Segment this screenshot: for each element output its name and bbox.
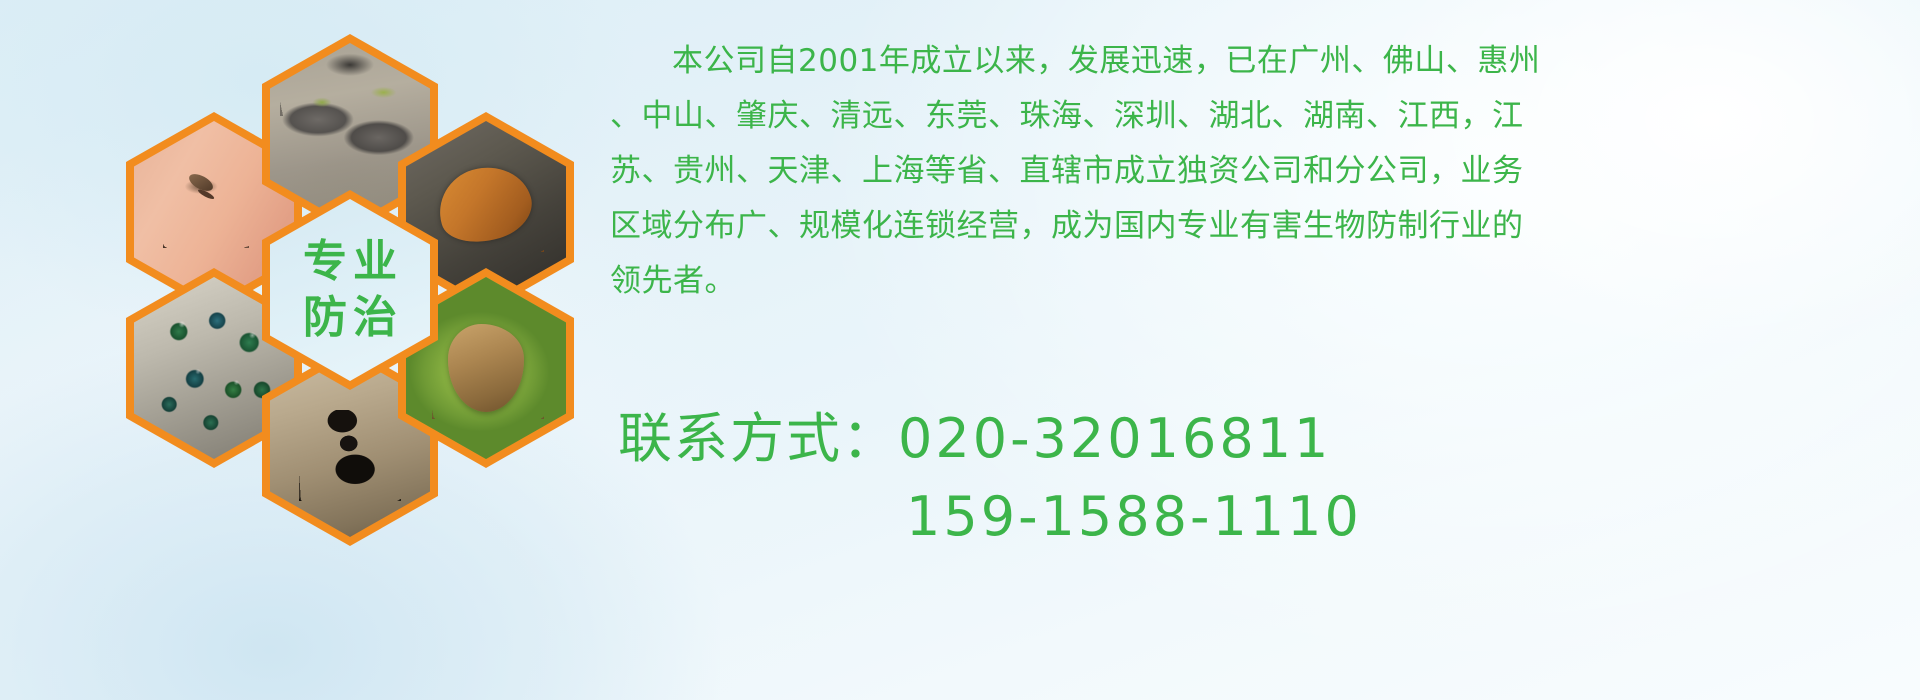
promo-banner: 专业 防治 本公司自2001年成立以来，发展迅速，已在广州、佛山、惠州 、中山、…: [0, 0, 1920, 700]
contact-line-primary: 联系方式：020-32016811: [618, 400, 1908, 478]
contact-block: 联系方式：020-32016811 159-1588-1110: [618, 400, 1908, 556]
logo-line-2: 防治: [297, 290, 403, 346]
contact-phone-mobile[interactable]: 159-1588-1110: [906, 485, 1362, 548]
honeycomb-photo-cluster: 专业 防治: [96, 14, 596, 574]
intro-line-5: 领先者。: [610, 254, 1900, 309]
intro-line-1: 本公司自2001年成立以来，发展迅速，已在广州、佛山、惠州: [610, 34, 1900, 89]
contact-label: 联系方式：: [618, 407, 898, 470]
logo-line-1: 专业: [297, 234, 403, 290]
hex-inner-logo: 专业 防治: [270, 199, 430, 381]
contact-phone-landline[interactable]: 020-32016811: [898, 407, 1331, 470]
intro-line-3: 苏、贵州、天津、上海等省、直辖市成立独资公司和分公司，业务: [610, 144, 1900, 199]
contact-line-secondary: 159-1588-1110: [618, 478, 1908, 556]
intro-line-4: 区域分布广、规模化连锁经营，成为国内专业有害生物防制行业的: [610, 199, 1900, 254]
company-intro-paragraph: 本公司自2001年成立以来，发展迅速，已在广州、佛山、惠州 、中山、肇庆、清远、…: [610, 34, 1900, 309]
intro-line-2: 、中山、肇庆、清远、东莞、珠海、深圳、湖北、湖南、江西，江: [610, 89, 1900, 144]
